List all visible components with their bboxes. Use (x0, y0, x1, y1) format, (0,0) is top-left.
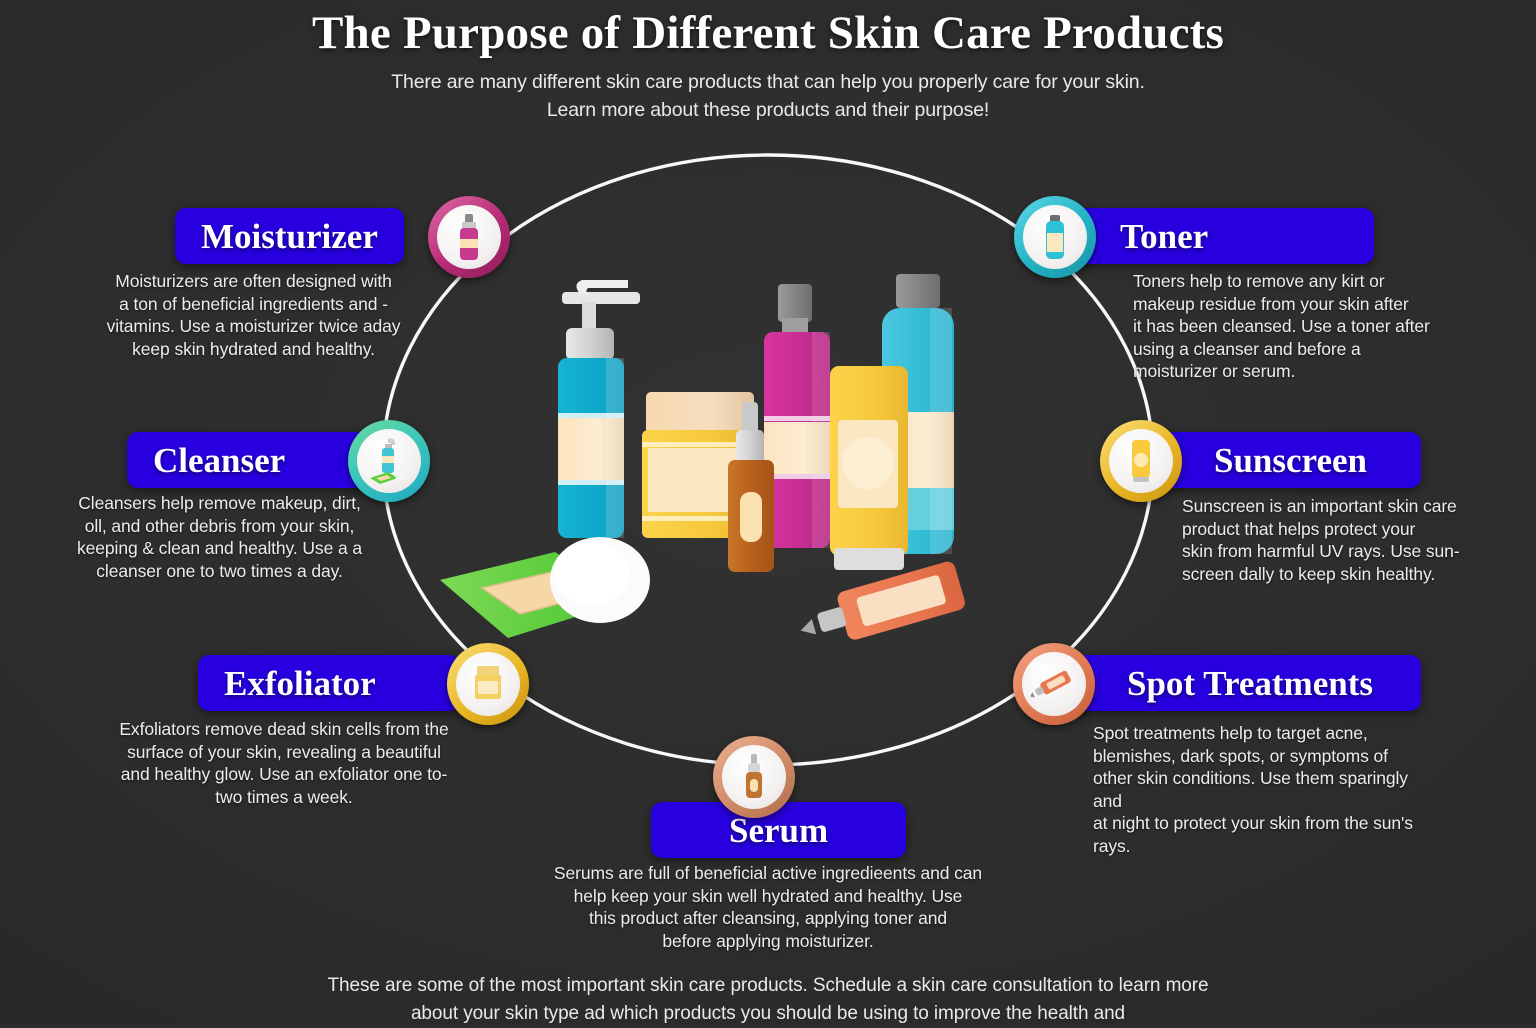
desc-spot-treatments: Spot treatments help to target acne, ble… (1093, 722, 1433, 857)
badge-moisturizer[interactable] (428, 196, 510, 278)
badge-inner-spot-treatments (1022, 652, 1086, 716)
pill-serum[interactable]: Serum (651, 802, 906, 858)
cotton-pad (550, 537, 650, 623)
pill-exfoliator[interactable]: Exfoliator (198, 655, 460, 711)
badge-inner-toner (1023, 205, 1087, 269)
cleanser-pump-icon (364, 436, 414, 486)
badge-inner-cleanser (357, 429, 421, 493)
pill-label-serum: Serum (677, 813, 880, 848)
sunscreen-tube-icon (1121, 436, 1161, 486)
exfoliator-jar-icon (468, 661, 508, 707)
badge-sunscreen[interactable] (1100, 420, 1182, 502)
lotion-bottle-icon (446, 212, 492, 262)
pill-cleanser[interactable]: Cleanser (127, 432, 369, 488)
pill-toner[interactable]: Toner (1060, 208, 1374, 264)
badge-serum[interactable] (713, 736, 795, 818)
desc-serum: Serums are full of beneficial active ing… (530, 862, 1006, 952)
pill-label-exfoliator: Exfoliator (224, 666, 434, 701)
spot-tube-icon (1029, 662, 1079, 706)
yellow-tube (830, 366, 908, 570)
desc-moisturizer: Moisturizers are often designed with a t… (96, 270, 411, 360)
badge-inner-moisturizer (437, 205, 501, 269)
badge-exfoliator[interactable] (447, 643, 529, 725)
infographic-canvas: The Purpose of Different Skin Care Produ… (0, 0, 1536, 1024)
pill-label-sunscreen: Sunscreen (1184, 443, 1395, 478)
pill-label-spot-treatments: Spot Treatments (1091, 666, 1395, 701)
badge-inner-serum (722, 745, 786, 809)
badge-spot-treatments[interactable] (1013, 643, 1095, 725)
badge-cleanser[interactable] (348, 420, 430, 502)
pill-moisturizer[interactable]: Moisturizer (175, 208, 404, 264)
desc-cleanser: Cleansers help remove makeup, dirt, oll,… (62, 492, 377, 582)
pill-sunscreen[interactable]: Sunscreen (1158, 432, 1421, 488)
subtitle-line-2: Learn more about these products and thei… (0, 97, 1536, 125)
pill-label-moisturizer: Moisturizer (201, 219, 378, 254)
badge-inner-exfoliator (456, 652, 520, 716)
serum-dropper-icon (736, 752, 772, 802)
desc-sunscreen: Sunscreen is an important skin care prod… (1182, 495, 1482, 585)
subtitle-line-1: There are many different skin care produ… (0, 69, 1536, 97)
badge-inner-sunscreen (1109, 429, 1173, 493)
toner-bottle-icon (1033, 212, 1077, 262)
desc-exfoliator: Exfoliators remove dead skin cells from … (110, 718, 458, 808)
pill-label-toner: Toner (1086, 219, 1348, 254)
footer-text: These are some of the most important ski… (0, 972, 1536, 1028)
page-title: The Purpose of Different Skin Care Produ… (0, 6, 1536, 61)
pill-label-cleanser: Cleanser (153, 443, 343, 478)
header: The Purpose of Different Skin Care Produ… (0, 6, 1536, 125)
skin-care-products-illustration (430, 270, 1050, 670)
badge-toner[interactable] (1014, 196, 1096, 278)
pump-bottle (558, 280, 640, 538)
orange-tube (793, 560, 966, 654)
pill-spot-treatments[interactable]: Spot Treatments (1065, 655, 1421, 711)
desc-toner: Toners help to remove any kirt or makeup… (1133, 270, 1453, 383)
